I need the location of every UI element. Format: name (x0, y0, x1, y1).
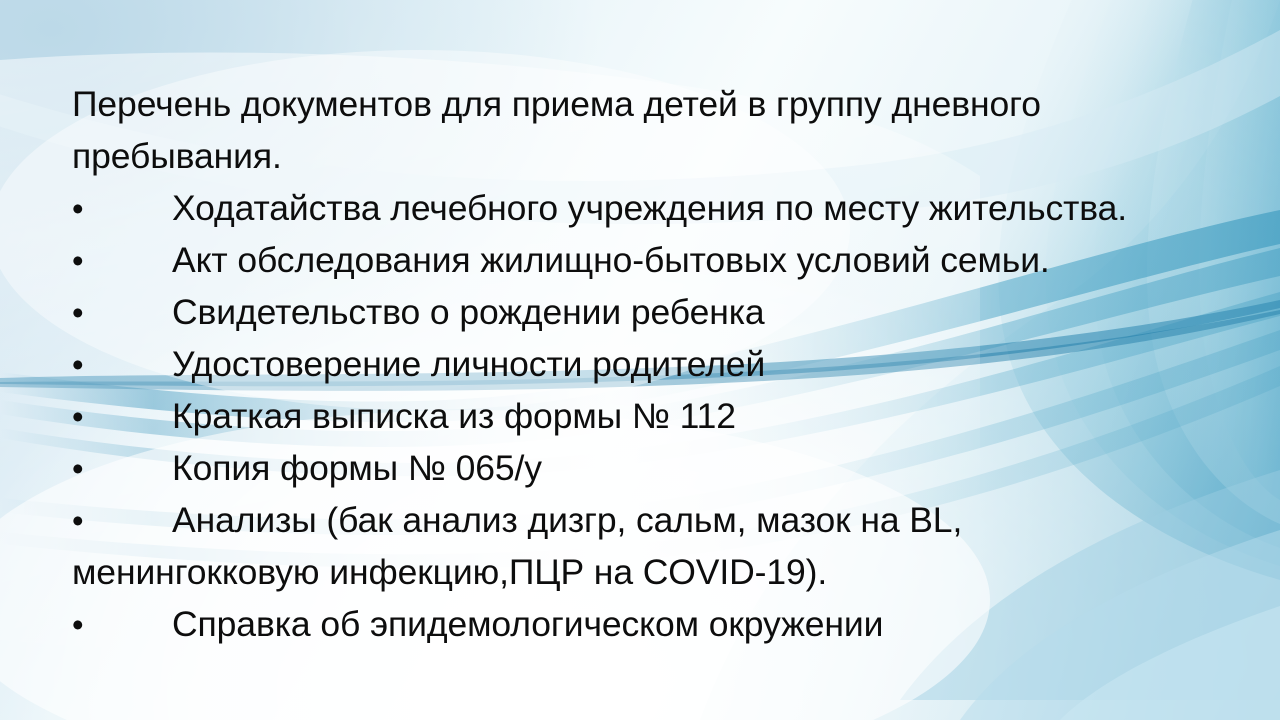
bullet-item-2-text: Акт обследования жилищно-бытовых условий… (172, 240, 1050, 280)
bullet-item-6-text: Копия формы № 065/у (172, 448, 542, 488)
bullet-marker-icon: • (72, 443, 172, 495)
slide-text-body: Перечень документов для приема детей в г… (0, 0, 1280, 720)
bullet-marker-icon: • (72, 599, 172, 651)
bullet-item-2: •Акт обследования жилищно-бытовых услови… (72, 234, 1192, 287)
slide-canvas: Перечень документов для приема детей в г… (0, 0, 1280, 720)
bullet-item-7-text: Анализы (бак анализ дизгр, сальм, мазок … (172, 500, 962, 540)
bullet-item-5-text: Краткая выписка из формы № 112 (172, 396, 736, 436)
bullet-item-7-wrapped-text: менингокковую инфекцию,ПЦР на COVID-19). (72, 546, 1192, 598)
bullet-item-4: •Удостоверение личности родителей (72, 338, 1192, 391)
heading-line-1: Перечень документов для приема детей в г… (72, 78, 1192, 130)
bullet-marker-icon: • (72, 287, 172, 339)
bullet-item-7: •Анализы (бак анализ дизгр, сальм, мазок… (72, 494, 1192, 547)
bullet-item-3-text: Свидетельство о рождении ребенка (172, 292, 765, 332)
bullet-item-3: •Свидетельство о рождении ребенка (72, 286, 1192, 339)
bullet-item-8-text: Справка об эпидемологическом окружении (172, 604, 883, 644)
bullet-item-1: •Ходатайства лечебного учреждения по мес… (72, 182, 1192, 235)
bullet-marker-icon: • (72, 183, 172, 235)
bullet-item-6: •Копия формы № 065/у (72, 442, 1192, 495)
heading-line-2: пребывания. (72, 130, 1192, 182)
bullet-item-5: •Краткая выписка из формы № 112 (72, 390, 1192, 443)
bullet-marker-icon: • (72, 495, 172, 547)
bullet-item-8: •Справка об эпидемологическом окружении (72, 598, 1192, 651)
bullet-marker-icon: • (72, 339, 172, 391)
bullet-item-1-text: Ходатайства лечебного учреждения по мест… (172, 188, 1127, 228)
bullet-marker-icon: • (72, 235, 172, 287)
bullet-marker-icon: • (72, 391, 172, 443)
bullet-item-4-text: Удостоверение личности родителей (172, 344, 765, 384)
